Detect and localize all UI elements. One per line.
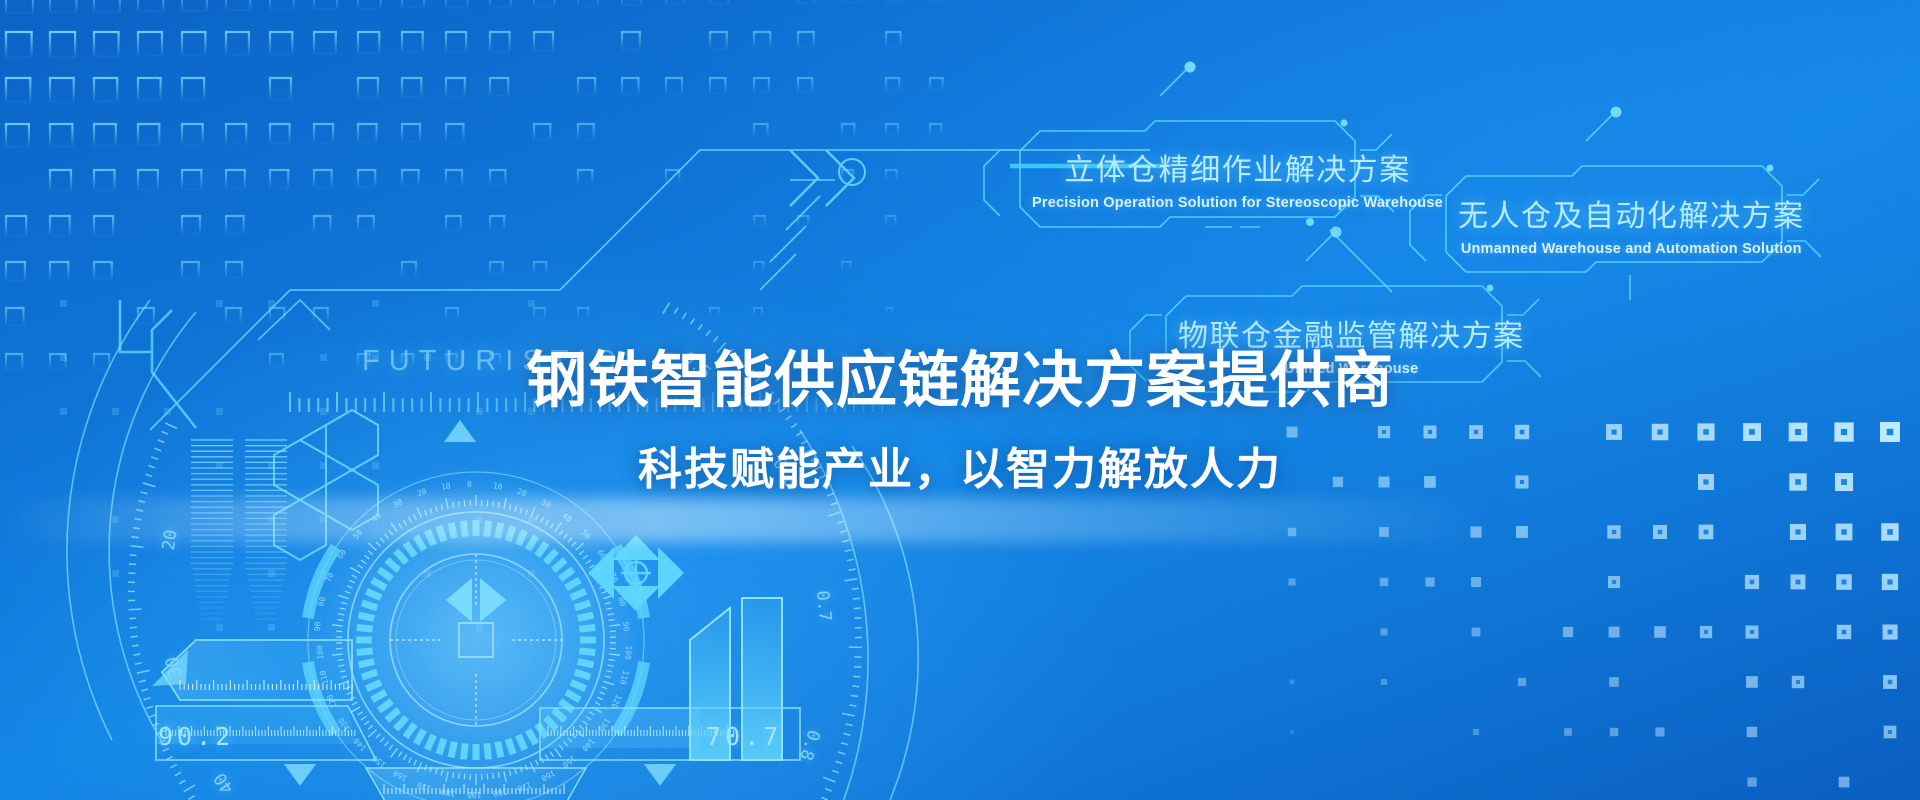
readout-value-left: 90.2 (158, 722, 234, 751)
solution-label-2[interactable]: 无人仓及自动化解决方案 Unmanned Warehouse and Autom… (1458, 200, 1805, 257)
solution-label-1-en: Precision Operation Solution for Stereos… (1032, 195, 1443, 211)
solution-label-2-cn: 无人仓及自动化解决方案 (1458, 200, 1805, 235)
readout-value-right: 70.7 (706, 722, 782, 751)
navigation-target-icon (588, 535, 684, 611)
page-subtitle: 科技赋能产业，以智力解放人力 (0, 433, 1920, 497)
solution-label-1-cn: 立体仓精细作业解决方案 (1032, 154, 1443, 189)
left-angled-panel (152, 640, 352, 700)
solution-label-1[interactable]: 立体仓精细作业解决方案 Precision Operation Solution… (1032, 154, 1443, 211)
page-title: 钢铁智能供应链解决方案提供商 (0, 330, 1920, 419)
solution-label-2-en: Unmanned Warehouse and Automation Soluti… (1458, 241, 1805, 257)
hero-banner: 0102030405060708090100110120130140150160… (0, 0, 1920, 800)
